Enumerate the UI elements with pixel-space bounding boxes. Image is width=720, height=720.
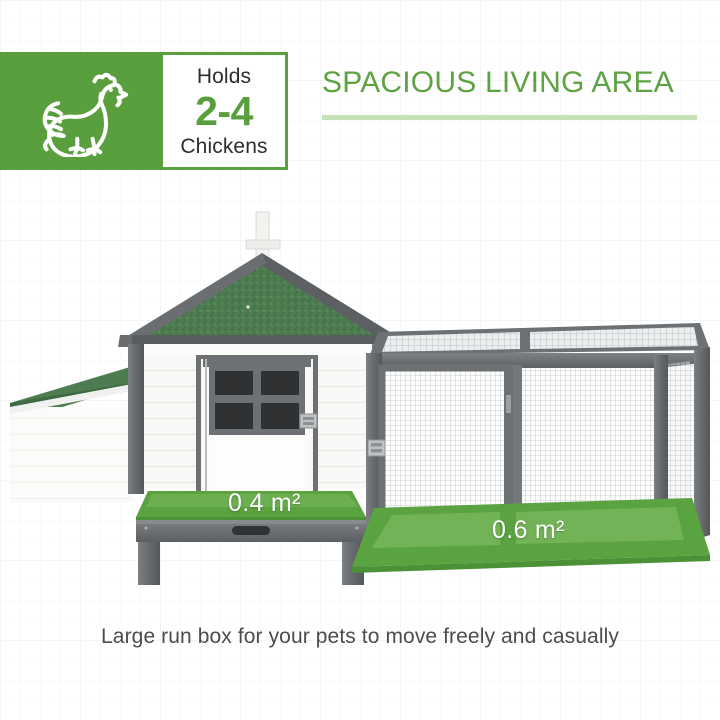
coop-tray-and-legs	[136, 520, 366, 585]
chicken-coop-illustration	[0, 195, 720, 585]
run-area-label: 0.6 m²	[492, 516, 565, 545]
coop-area-label: 0.4 m²	[228, 489, 301, 518]
coop-roof	[118, 212, 406, 347]
chicken-icon-panel	[0, 52, 166, 170]
capacity-count: 2-4	[195, 91, 253, 132]
title-underline	[322, 115, 697, 120]
chicken-icon	[35, 65, 131, 157]
page-title: SPACIOUS LIVING AREA	[322, 68, 702, 98]
capacity-prefix-label: Holds	[197, 66, 251, 87]
capacity-suffix-label: Chickens	[180, 136, 267, 157]
product-image	[0, 195, 720, 585]
title-block: SPACIOUS LIVING AREA	[322, 68, 702, 120]
header-banner: Holds 2-4 Chickens SPACIOUS LIVING AREA	[0, 52, 720, 170]
coop-body	[128, 344, 394, 494]
caption-text: Large run box for your pets to move free…	[0, 625, 720, 649]
capacity-badge: Holds 2-4 Chickens	[160, 52, 288, 170]
